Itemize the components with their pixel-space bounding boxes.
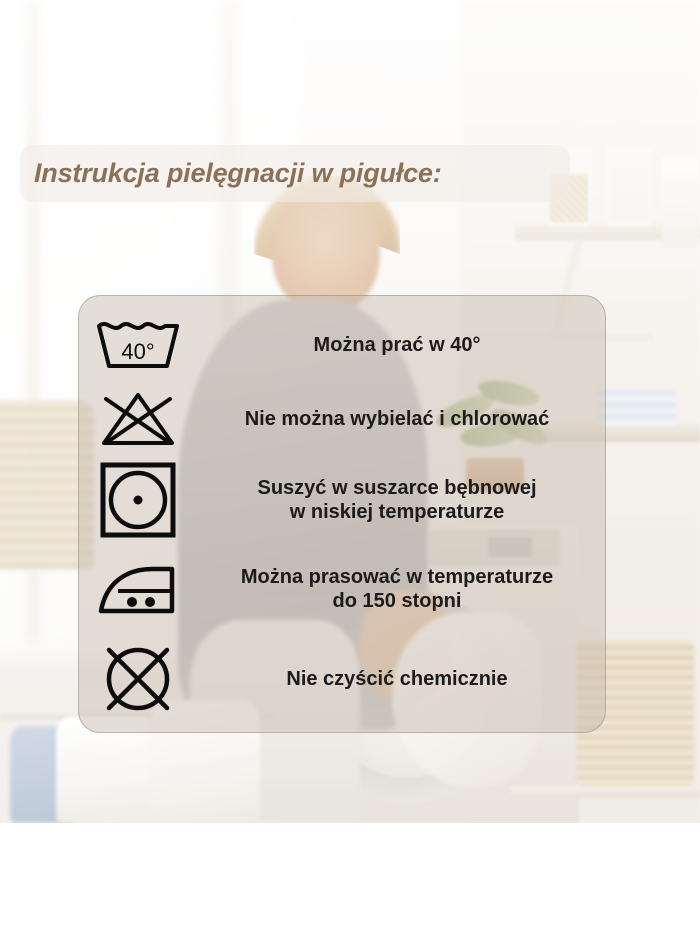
care-instruction-row: Można prasować w temperaturze do 150 sto… xyxy=(78,547,606,631)
do-not-dry-clean-icon xyxy=(78,644,198,714)
care-instruction-row: Nie można wybielać i chlorować xyxy=(78,383,606,455)
wash-temp-text: 40° xyxy=(121,339,154,364)
care-instruction-label: Suszyć w suszarce bębnowej w niskiej tem… xyxy=(198,476,606,525)
care-instruction-label: Można prasować w temperaturze do 150 sto… xyxy=(198,565,606,614)
background-bottle xyxy=(662,156,698,248)
page-title: Instrukcja pielęgnacji w pigułce: xyxy=(34,158,442,189)
infographic-stage: Instrukcja pielęgnacji w pigułce: 40° Mo… xyxy=(0,0,700,945)
care-instruction-label: Można prać w 40° xyxy=(198,333,606,357)
care-instructions-list: 40° Można prać w 40° Nie można wybielać … xyxy=(78,295,606,733)
care-instruction-label: Nie można wybielać i chlorować xyxy=(198,407,606,431)
care-instruction-label: Nie czyścić chemicznie xyxy=(198,667,606,691)
tumble-dry-low-icon xyxy=(78,462,198,538)
background-jar-knob xyxy=(622,119,636,131)
background-jar-lid xyxy=(608,128,650,148)
care-instruction-row: Suszyć w suszarce bębnowej w niskiej tem… xyxy=(78,457,606,543)
background-jar xyxy=(606,146,652,226)
background-jar-knob xyxy=(562,119,576,131)
do-not-bleach-icon xyxy=(78,392,198,446)
background-folded-towels xyxy=(598,390,676,426)
care-instruction-row: Nie czyścić chemicznie xyxy=(78,639,606,719)
background-lower-shelf xyxy=(510,786,700,798)
wash-tub-40-icon: 40° xyxy=(78,320,198,370)
care-instruction-row: 40° Można prać w 40° xyxy=(78,309,606,381)
title-banner: Instrukcja pielęgnacji w pigułce: xyxy=(20,145,570,202)
iron-two-dots-icon xyxy=(78,561,198,617)
